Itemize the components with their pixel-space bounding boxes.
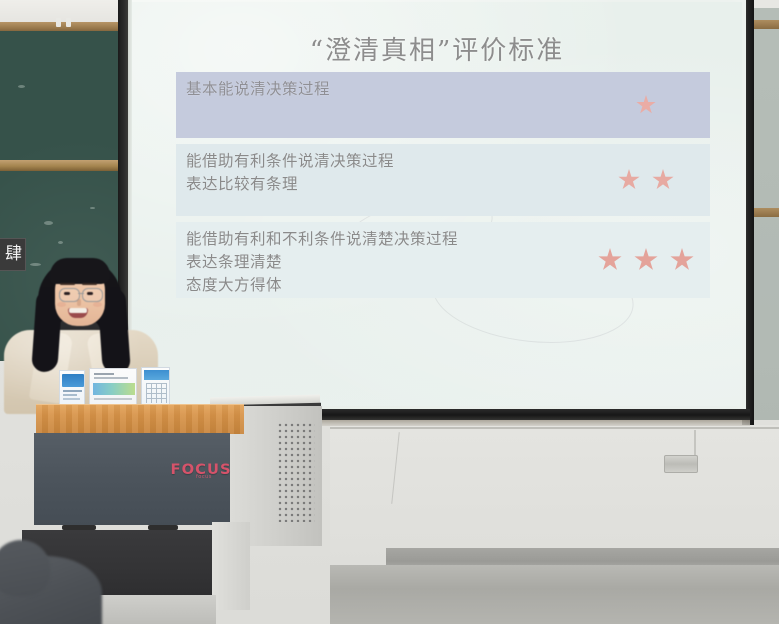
eye-right	[87, 292, 93, 295]
criteria-line: 表达条理清楚	[186, 251, 582, 274]
podium-speaker-grille	[277, 422, 315, 522]
hair-fringe	[50, 258, 110, 284]
criteria-line: 表达比较有条理	[186, 173, 582, 196]
star-icon	[670, 248, 694, 272]
teeth	[69, 308, 87, 313]
criteria-line: 态度大方得体	[186, 274, 582, 297]
classroom-photo: 肆 “澄清真相”评价标准 基本能说清决策过程 能借助有利	[0, 0, 779, 624]
slide-content: “澄清真相”评价标准 基本能说清决策过程 能借助有利条件说清决策过程 表达比较有…	[132, 0, 742, 406]
table-row: 基本能说清决策过程	[176, 72, 710, 138]
criteria-description-cell: 能借助有利和不利条件说清楚决策过程 表达条理清楚 态度大方得体	[176, 222, 582, 298]
star-rating-cell	[582, 222, 710, 298]
criteria-line: 能借助有利和不利条件说清楚决策过程	[186, 228, 582, 251]
blackboard-right-rail-top	[752, 20, 779, 29]
plaque-label: 肆	[5, 246, 22, 263]
criteria-table: 基本能说清决策过程 能借助有利条件说清决策过程 表达比较有条理 能借助	[176, 72, 710, 304]
wall-seam	[330, 427, 779, 429]
star-icon	[634, 248, 658, 272]
nose	[77, 299, 81, 306]
criteria-description-cell: 基本能说清决策过程	[176, 72, 582, 138]
blackboard-number-plaque: 肆	[0, 238, 26, 271]
desk-box-grid	[141, 367, 170, 406]
eyeglass-bridge	[78, 293, 84, 294]
star-icon	[636, 95, 656, 115]
wall-fixture	[664, 455, 698, 473]
podium-brand-sublabel: focus	[196, 474, 212, 480]
star-icon	[652, 169, 674, 191]
desk-box-color-strip	[89, 368, 137, 406]
foreground-person-head	[0, 540, 50, 596]
table-row: 能借助有利条件说清决策过程 表达比较有条理	[176, 144, 710, 216]
eyeglass-lens-right	[82, 288, 103, 302]
floor	[330, 565, 779, 624]
presenter	[0, 0, 200, 230]
criteria-line: 基本能说清决策过程	[186, 78, 582, 101]
star-icon	[618, 169, 640, 191]
podium-base-side	[212, 522, 250, 610]
star-rating-cell	[582, 144, 710, 216]
cheek-left	[57, 302, 66, 307]
podium-wood-panel	[36, 404, 244, 434]
eye-left	[64, 292, 70, 295]
slide-title: “澄清真相”评价标准	[132, 30, 742, 67]
star-rating-cell	[582, 72, 710, 138]
cheek-right	[93, 302, 102, 307]
criteria-description-cell: 能借助有利条件说清决策过程 表达比较有条理	[176, 144, 582, 216]
criteria-line: 能借助有利条件说清决策过程	[186, 150, 582, 173]
star-icon	[598, 248, 622, 272]
blackboard-right-rail-mid	[752, 208, 779, 217]
table-row: 能借助有利和不利条件说清楚决策过程 表达条理清楚 态度大方得体	[176, 222, 710, 298]
desk-box-blue-label	[59, 370, 85, 406]
